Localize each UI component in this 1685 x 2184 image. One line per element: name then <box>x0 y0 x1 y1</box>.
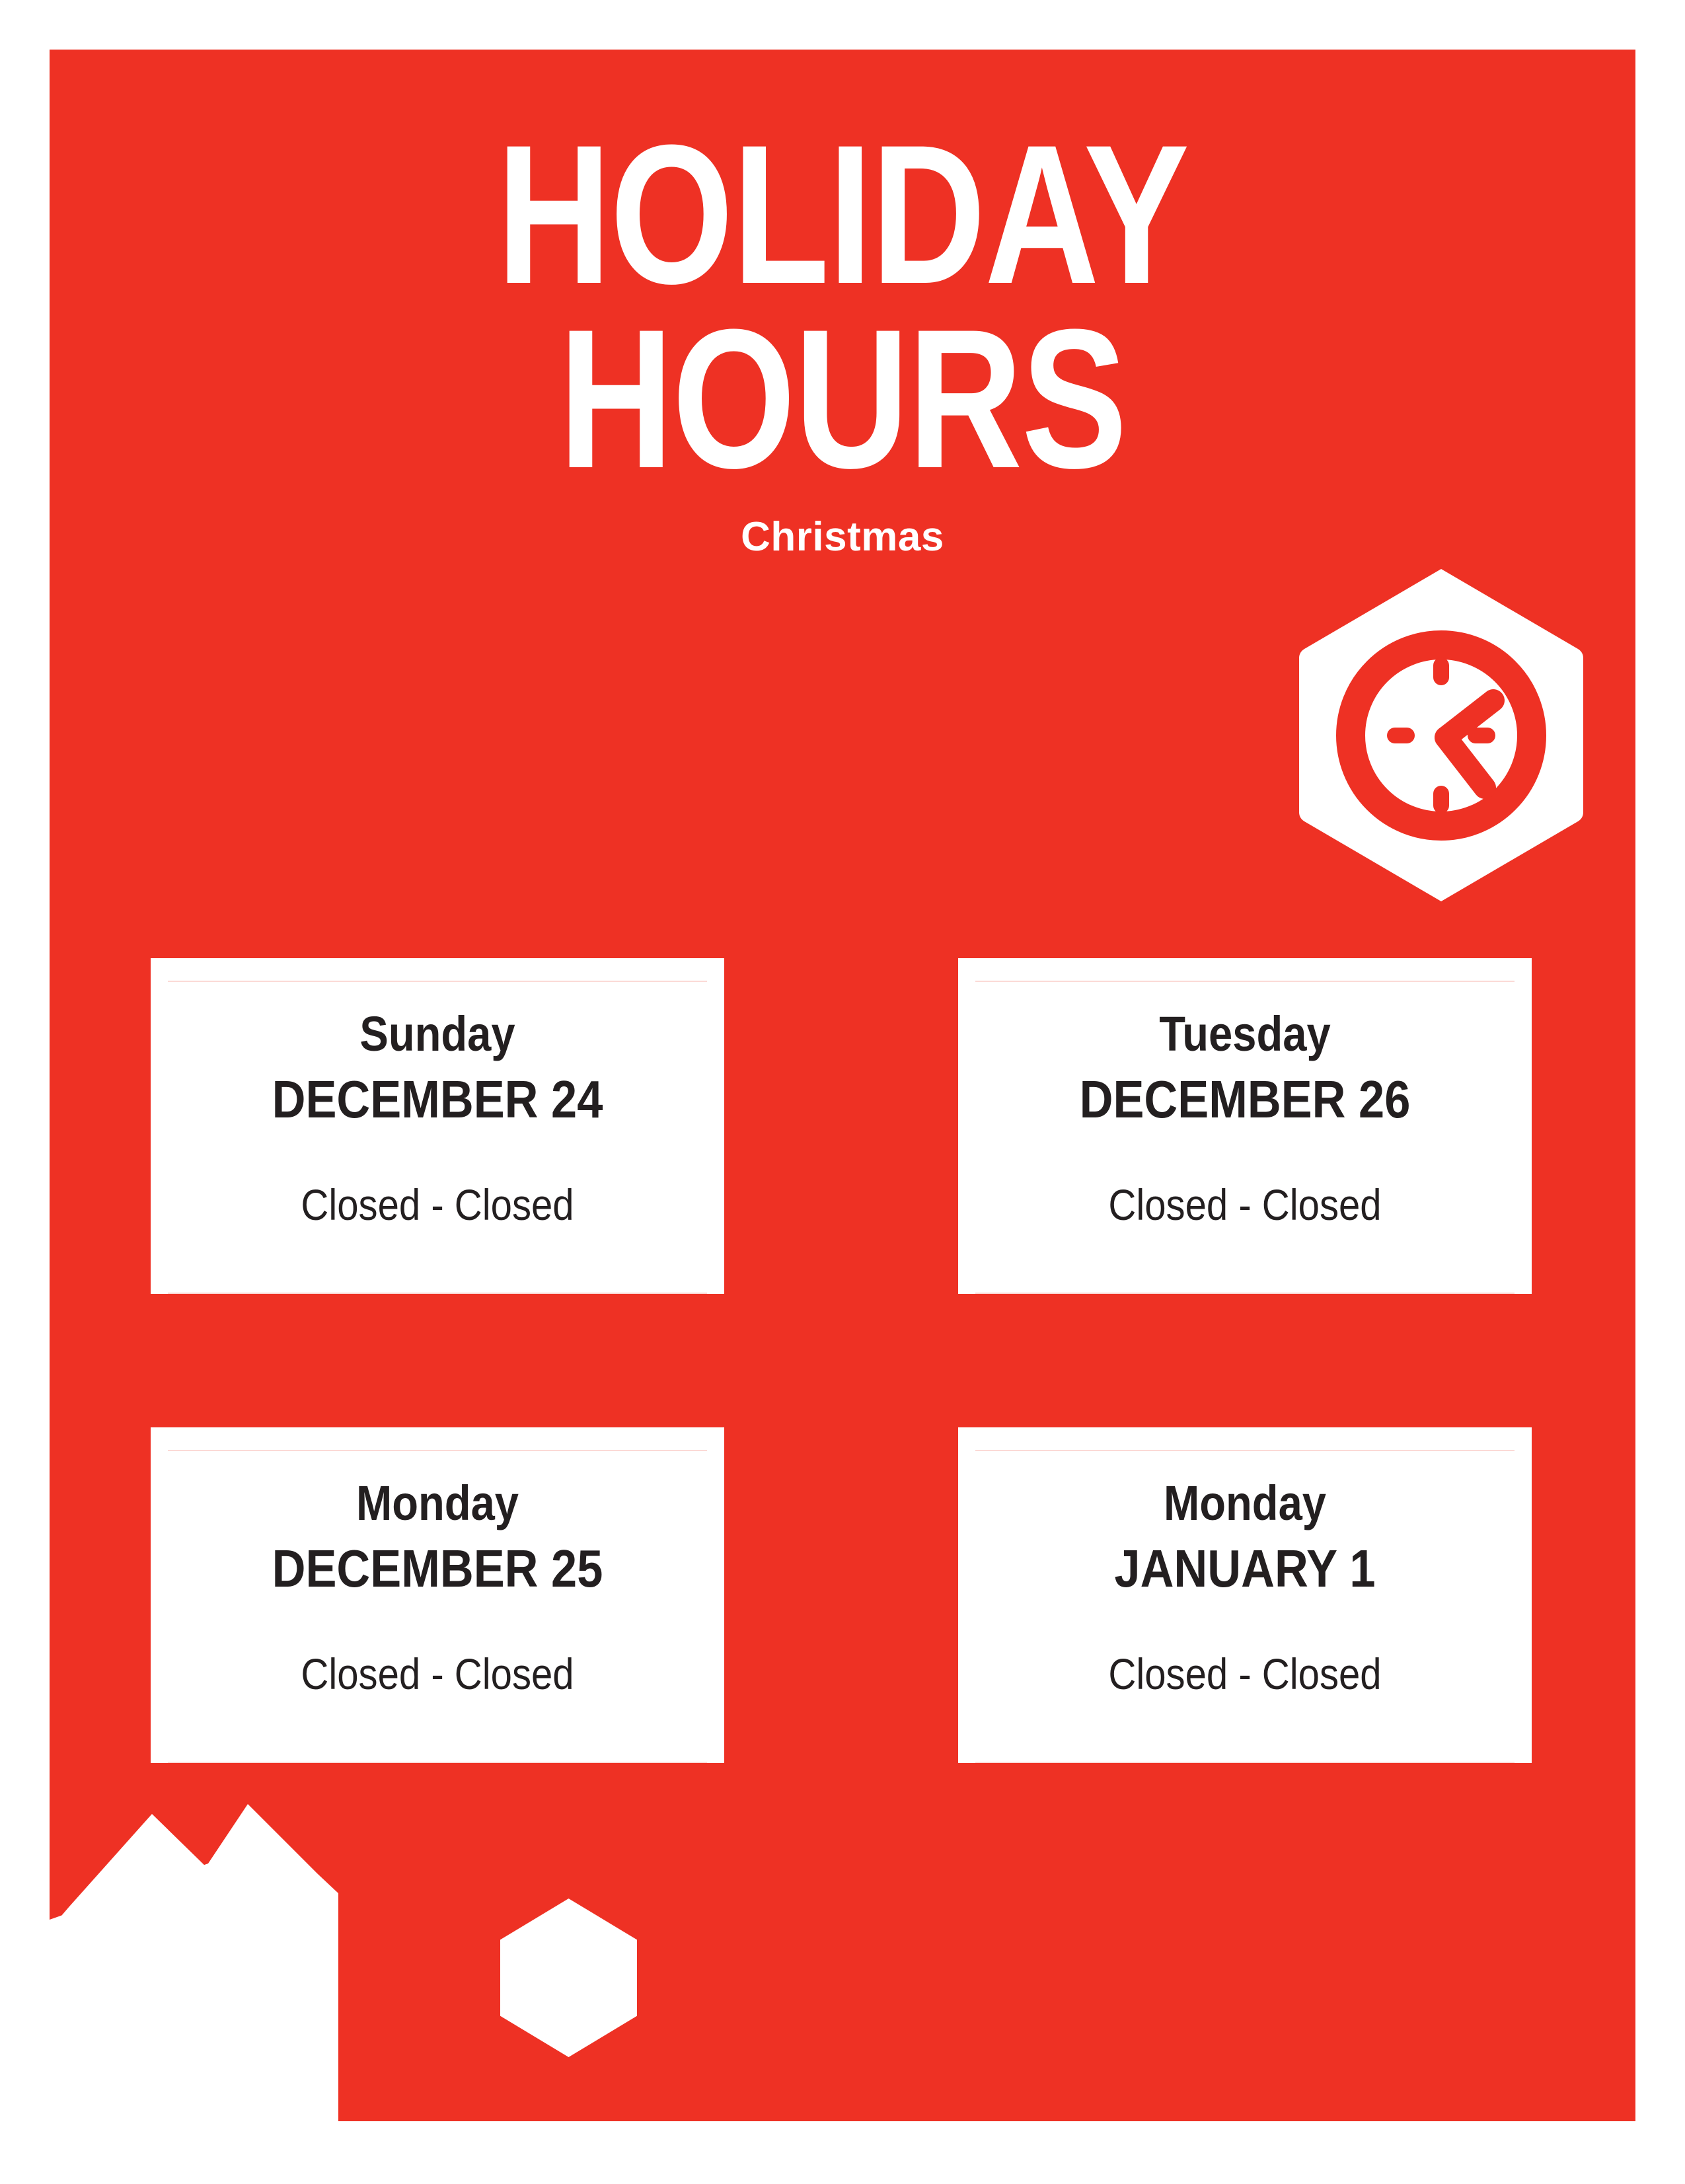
page-title: HOLIDAY HOURS <box>208 50 1477 491</box>
holiday-card: Tuesday DECEMBER 26 Closed - Closed <box>958 958 1532 1294</box>
clock-icon <box>1295 565 1587 905</box>
card-date: DECEMBER 26 <box>1008 1059 1482 1126</box>
card-hours: Closed - Closed <box>1008 1126 1482 1226</box>
poster-header: HOLIDAY HOURS Christmas <box>50 50 1635 560</box>
holiday-card: Sunday DECEMBER 24 Closed - Closed <box>151 958 724 1294</box>
card-weekday: Monday <box>1008 1479 1482 1528</box>
card-date: JANUARY 1 <box>1008 1528 1482 1595</box>
card-inner: Monday DECEMBER 25 Closed - Closed <box>168 1450 707 1763</box>
card-date: DECEMBER 25 <box>200 1528 675 1595</box>
card-inner: Sunday DECEMBER 24 Closed - Closed <box>168 981 707 1294</box>
card-inner: Tuesday DECEMBER 26 Closed - Closed <box>975 981 1515 1294</box>
holiday-card: Monday DECEMBER 25 Closed - Closed <box>151 1427 724 1763</box>
card-date: DECEMBER 24 <box>200 1059 675 1126</box>
holiday-card: Monday JANUARY 1 Closed - Closed <box>958 1427 1532 1763</box>
card-hours: Closed - Closed <box>200 1126 675 1226</box>
card-inner: Monday JANUARY 1 Closed - Closed <box>975 1450 1515 1763</box>
card-hours: Closed - Closed <box>200 1595 675 1696</box>
card-weekday: Sunday <box>200 1010 675 1059</box>
card-weekday: Tuesday <box>1008 1010 1482 1059</box>
holiday-hours-poster: HOLIDAY HOURS Christmas Sunday DECEMBER … <box>0 0 1685 2181</box>
card-weekday: Monday <box>200 1479 675 1528</box>
card-hours: Closed - Closed <box>1008 1595 1482 1696</box>
